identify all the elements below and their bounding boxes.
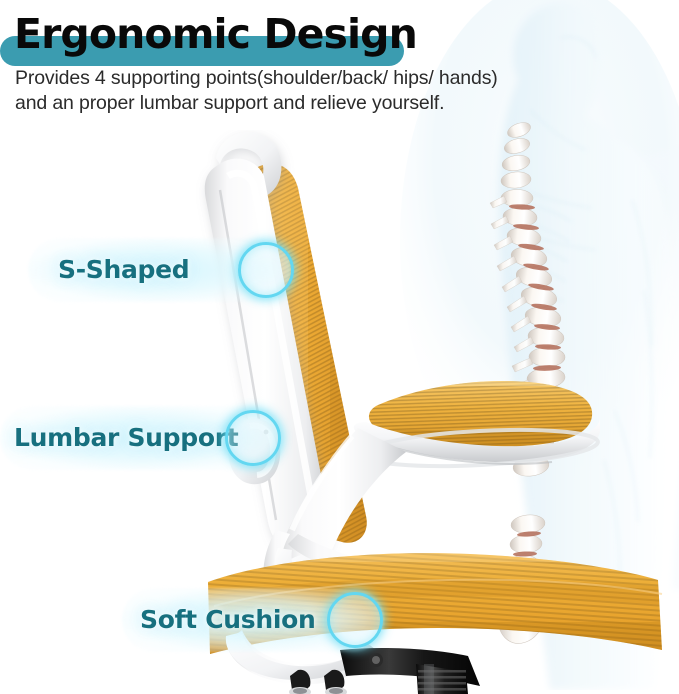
ring-highlight-circle-icon xyxy=(225,410,281,466)
page-title: Ergonomic Design xyxy=(14,6,417,62)
callout-label: Soft Cushion xyxy=(140,588,315,652)
header: Ergonomic Design Provides 4 supporting p… xyxy=(0,0,679,130)
ring-highlight-circle-icon xyxy=(327,592,383,648)
callout-label: S-Shaped xyxy=(58,238,189,302)
callout-s-shaped: S-Shaped xyxy=(28,238,298,302)
title-block: Ergonomic Design xyxy=(14,6,417,62)
callout-soft-cushion: Soft Cushion xyxy=(122,588,390,652)
page-subtitle: Provides 4 supporting points(shoulder/ba… xyxy=(15,66,615,116)
callout-lumbar-support: Lumbar Support xyxy=(0,406,288,470)
callout-label: Lumbar Support xyxy=(14,406,238,470)
ring-highlight-circle-icon xyxy=(238,242,294,298)
